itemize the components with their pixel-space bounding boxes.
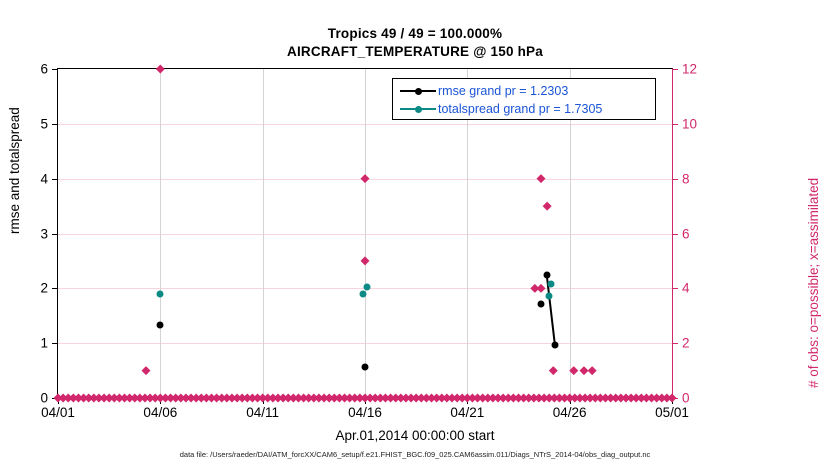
- y-axis-left-tick: [52, 234, 58, 235]
- legend-box: rmse grand pr = 1.2303 totalspread grand…: [392, 78, 656, 120]
- figure-title-line2: AIRCRAFT_TEMPERATURE @ 150 hPa: [0, 44, 830, 59]
- legend-entry-totalspread[interactable]: totalspread grand pr = 1.7305: [398, 100, 650, 118]
- data-point-marker[interactable]: [544, 271, 551, 278]
- data-point-marker[interactable]: [538, 300, 545, 307]
- x-axis-tick-label: 04/06: [143, 405, 177, 420]
- obs-marker[interactable]: [549, 366, 558, 375]
- y-axis-left-tick-label: 1: [40, 336, 48, 351]
- y-axis-right-tick-label: 2: [682, 336, 690, 351]
- y-axis-left-tick: [52, 69, 58, 70]
- legend-marker-totalspread: [398, 102, 438, 116]
- y-axis-left-tick-label: 2: [40, 281, 48, 296]
- data-point-marker[interactable]: [364, 283, 371, 290]
- data-point-marker[interactable]: [546, 293, 553, 300]
- y-axis-left-tick-label: 0: [40, 391, 48, 406]
- obs-marker[interactable]: [537, 284, 546, 293]
- y-axis-right-tick: [672, 124, 678, 125]
- obs-marker[interactable]: [588, 366, 597, 375]
- y-axis-right-tick: [672, 234, 678, 235]
- y-axis-left-tick-label: 3: [40, 226, 48, 241]
- data-point-marker[interactable]: [552, 341, 559, 348]
- y-axis-right-tick-label: 4: [682, 281, 690, 296]
- y-axis-right-title: # of obs: o=possible; x=assimilated: [806, 178, 821, 388]
- legend-entry-rmse[interactable]: rmse grand pr = 1.2303: [398, 82, 650, 100]
- obs-marker[interactable]: [537, 174, 546, 183]
- y-axis-left-tick: [52, 179, 58, 180]
- legend-label-rmse: rmse grand pr = 1.2303: [438, 84, 568, 98]
- gridline-vertical: [263, 69, 264, 398]
- x-axis-title: Apr.01,2014 00:00:00 start: [0, 428, 830, 443]
- legend-marker-rmse: [398, 84, 438, 98]
- x-axis-tick-label: 04/11: [246, 405, 279, 420]
- obs-marker[interactable]: [361, 174, 370, 183]
- x-axis-tick-label: 05/01: [655, 405, 689, 420]
- figure-title-line1: Tropics 49 / 49 = 100.000%: [0, 26, 830, 41]
- x-axis-tick-label: 04/26: [553, 405, 587, 420]
- y-axis-right-tick-label: 10: [682, 116, 697, 131]
- obs-marker[interactable]: [361, 256, 370, 265]
- obs-marker[interactable]: [142, 366, 151, 375]
- figure-canvas: Tropics 49 / 49 = 100.000% AIRCRAFT_TEMP…: [0, 0, 830, 470]
- gridline-vertical: [365, 69, 366, 398]
- y-axis-right-tick-label: 12: [682, 62, 697, 77]
- y-axis-left-tick: [52, 124, 58, 125]
- obs-marker[interactable]: [156, 65, 165, 74]
- data-file-caption: data file: /Users/raeder/DAI/ATM_forcXX/…: [0, 450, 830, 459]
- y-axis-right-tick-label: 8: [682, 171, 690, 186]
- y-axis-left-tick-label: 5: [40, 116, 48, 131]
- y-axis-right-tick: [672, 179, 678, 180]
- data-point-marker[interactable]: [362, 364, 369, 371]
- obs-marker-zero: [668, 394, 677, 403]
- data-point-marker[interactable]: [359, 290, 366, 297]
- y-axis-left-tick: [52, 288, 58, 289]
- data-point-marker[interactable]: [157, 321, 164, 328]
- y-axis-right-tick-label: 6: [682, 226, 690, 241]
- y-axis-right-tick: [672, 343, 678, 344]
- y-axis-left-title: rmse and totalspread: [7, 107, 22, 234]
- data-point-marker[interactable]: [157, 291, 164, 298]
- obs-marker[interactable]: [543, 202, 552, 211]
- y-axis-right-tick: [672, 69, 678, 70]
- x-axis-tick-label: 04/21: [450, 405, 484, 420]
- y-axis-right-tick-label: 0: [682, 391, 690, 406]
- y-axis-left-tick-label: 4: [40, 171, 48, 186]
- y-axis-right-tick: [672, 288, 678, 289]
- x-axis-tick-label: 04/16: [348, 405, 382, 420]
- y-axis-left-tick-label: 6: [40, 62, 48, 77]
- y-axis-left-tick: [52, 343, 58, 344]
- legend-label-totalspread: totalspread grand pr = 1.7305: [438, 102, 602, 116]
- x-axis-tick-label: 04/01: [41, 405, 75, 420]
- gridline-vertical: [160, 69, 161, 398]
- data-point-marker[interactable]: [548, 281, 555, 288]
- obs-marker[interactable]: [579, 366, 588, 375]
